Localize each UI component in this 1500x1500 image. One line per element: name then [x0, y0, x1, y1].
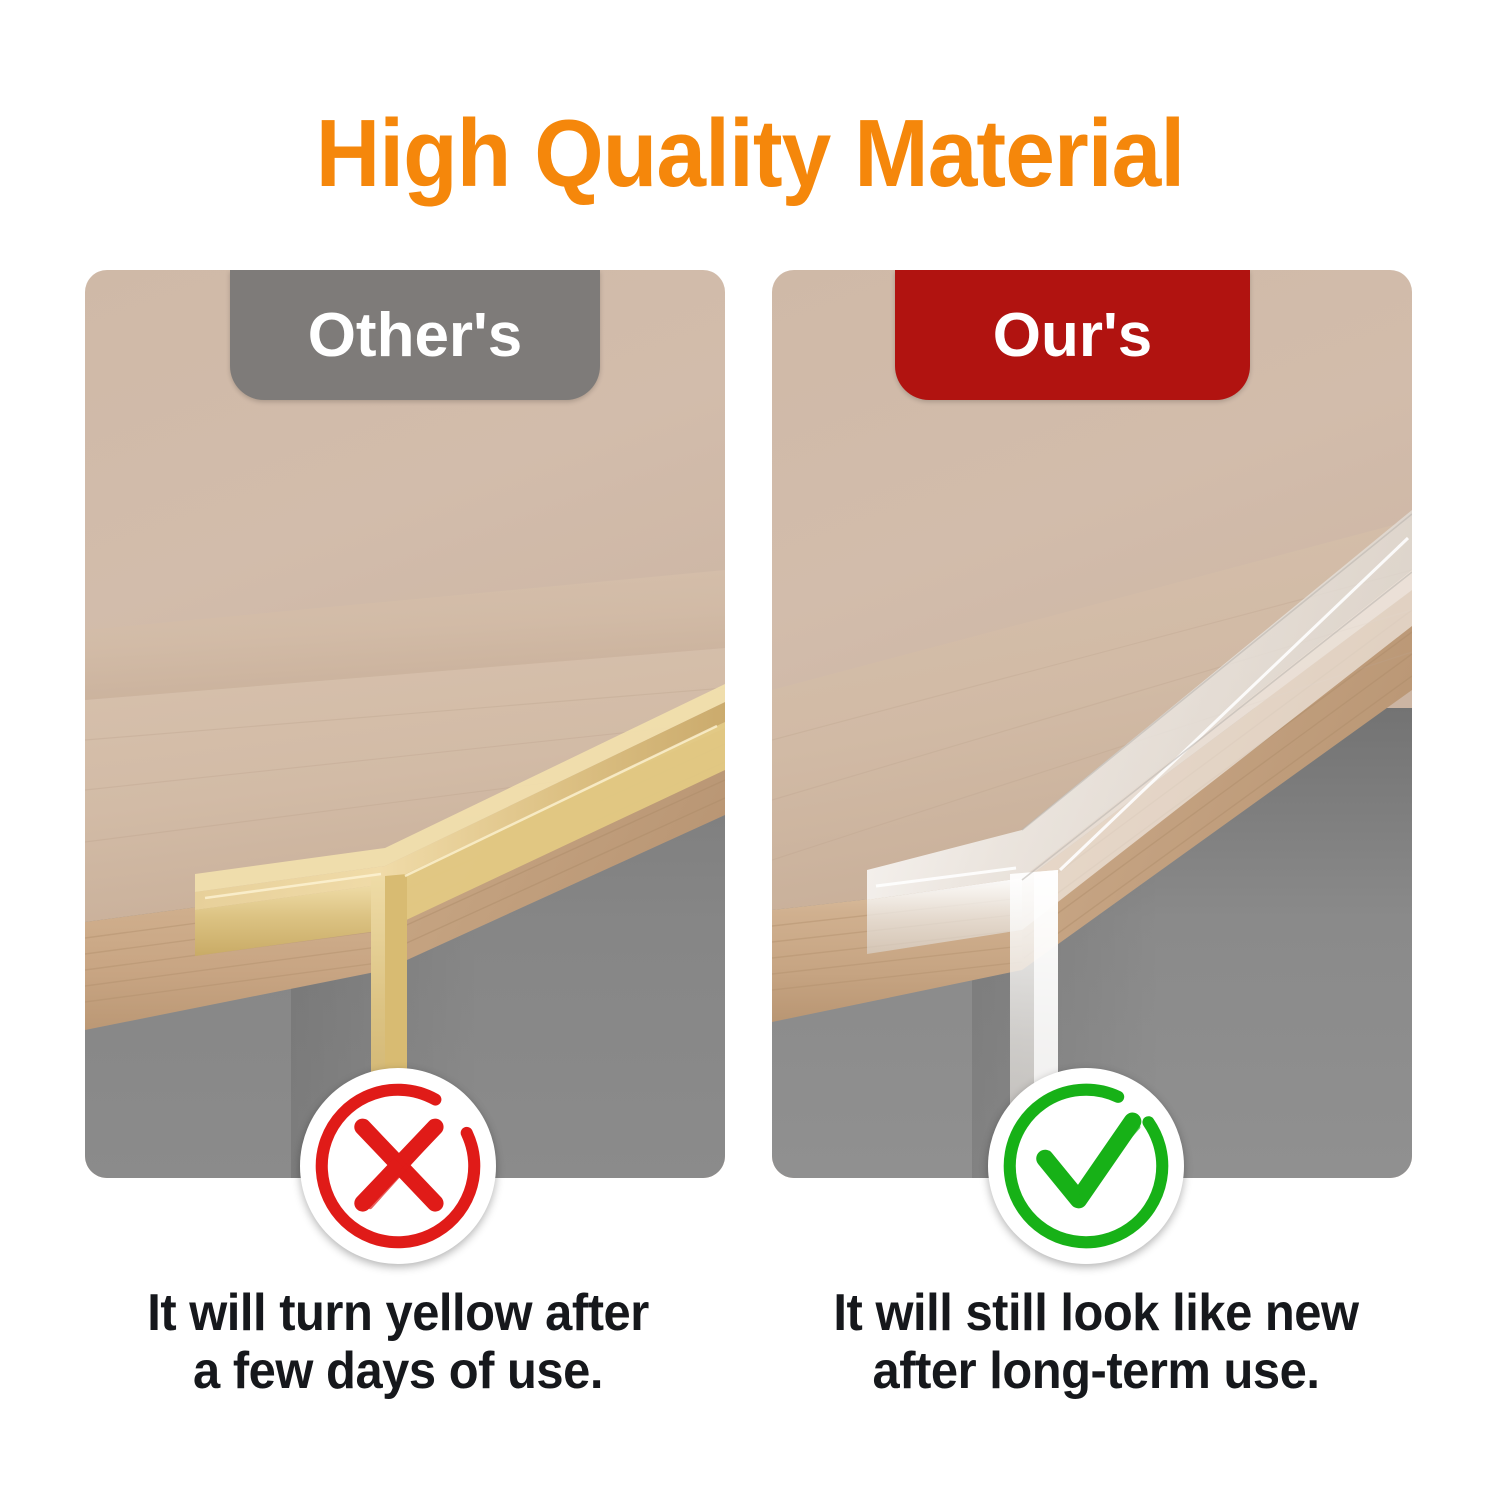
- badge-ours-label: Our's: [993, 300, 1152, 371]
- caption-ours-line2: after long-term use.: [767, 1342, 1425, 1400]
- caption-other-line1: It will turn yellow after: [147, 1284, 649, 1342]
- product-photo-ours: Our's: [772, 270, 1412, 1178]
- page-title: High Quality Material: [53, 104, 1448, 205]
- check-circle-icon: [988, 1068, 1184, 1264]
- table-illustration: [85, 270, 725, 1178]
- caption-ours-line1: It will still look like new: [833, 1284, 1358, 1342]
- table-illustration: [772, 270, 1412, 1178]
- badge-ours: Our's: [895, 270, 1250, 400]
- check-circle-glyph: [993, 1073, 1179, 1259]
- cross-circle-icon: [300, 1068, 496, 1264]
- cross-circle-glyph: [305, 1073, 491, 1259]
- caption-other: It will turn yellow after a few days of …: [69, 1284, 727, 1400]
- product-photo-other: Other's: [85, 270, 725, 1178]
- comparison-panel-other: Other's: [85, 270, 725, 1178]
- caption-other-line2: a few days of use.: [69, 1342, 727, 1400]
- comparison-panel-ours: Our's: [772, 270, 1412, 1178]
- caption-ours: It will still look like new after long-t…: [767, 1284, 1425, 1400]
- badge-other: Other's: [230, 270, 600, 400]
- badge-other-label: Other's: [308, 300, 523, 371]
